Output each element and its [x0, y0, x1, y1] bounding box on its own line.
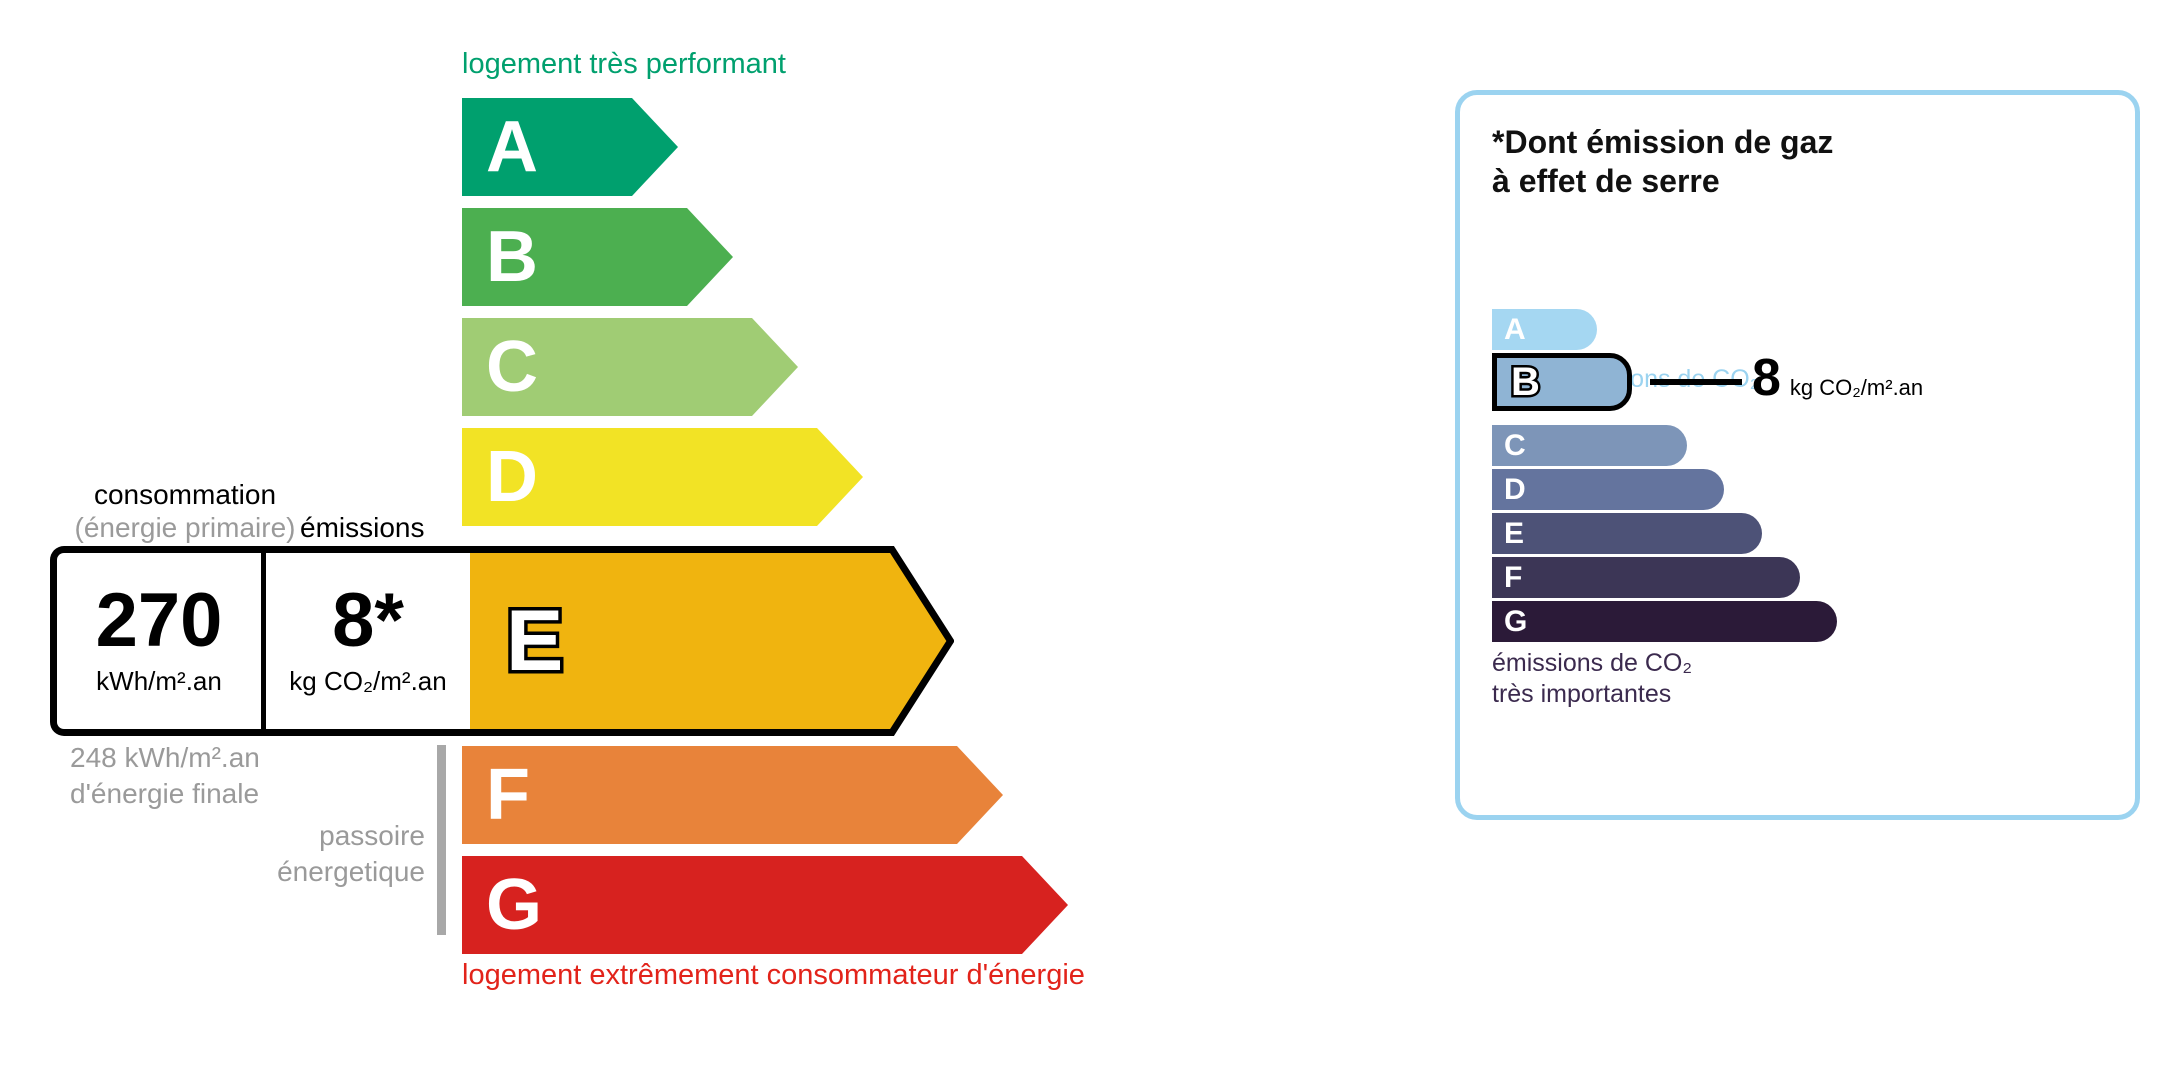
co2-bar-E: E — [1492, 513, 1762, 554]
energy-scale-bottom-caption: logement extrêmement consommateur d'éner… — [462, 959, 1085, 992]
co2-emission-panel: *Dont émission de gaz à effet de serre p… — [1455, 90, 2140, 820]
energy-value-box: 270 kWh/m².an 8* kg CO₂/m².an — [50, 546, 470, 736]
co2-class-row-F: F — [1492, 557, 1800, 598]
energy-class-letter-C: C — [486, 331, 538, 403]
consumption-unit: kWh/m².an — [96, 666, 222, 697]
co2-class-letter-A: A — [1504, 315, 1526, 345]
consumption-value: 270 — [96, 585, 223, 657]
final-energy-line1: 248 kWh/m².an — [70, 740, 260, 776]
consumption-value-cell: 270 kWh/m².an — [57, 553, 266, 729]
energy-arrow-G: G — [462, 856, 542, 954]
energy-class-letter-F: F — [486, 759, 530, 831]
co2-title-line2: à effet de serre — [1492, 162, 1833, 201]
energy-arrow-C: C — [462, 318, 538, 416]
co2-value-unit: kg CO₂/m².an — [1790, 375, 1923, 401]
co2-class-row-D: D — [1492, 469, 1724, 510]
energy-class-letter-G: G — [486, 869, 542, 941]
energy-class-row-F: F — [462, 746, 1003, 844]
emission-unit: kg CO₂/m².an — [289, 666, 446, 697]
co2-bar-C: C — [1492, 425, 1687, 466]
energy-arrow-shape-F — [462, 746, 1003, 844]
energy-class-row-D: D — [462, 428, 863, 526]
energy-class-letter-E: E — [506, 598, 563, 684]
energy-arrow-A: A — [462, 98, 538, 196]
co2-value-number: 8 — [1752, 352, 1781, 404]
energy-class-row-C: C — [462, 318, 798, 416]
co2-value-readout: 8 kg CO₂/m².an — [1752, 352, 1923, 404]
energy-class-letter-B: B — [486, 221, 538, 293]
energy-arrow-D: D — [462, 428, 538, 526]
co2-class-row-E: E — [1492, 513, 1762, 554]
co2-class-row-B: B — [1492, 353, 1632, 411]
co2-title-line1: *Dont émission de gaz — [1492, 123, 1833, 162]
co2-bottom-line1: émissions de CO₂ — [1492, 648, 1692, 679]
energy-class-letter-A: A — [486, 111, 538, 183]
co2-class-row-C: C — [1492, 425, 1687, 466]
passoire-line1: passoire — [200, 818, 425, 854]
energy-performance-diagram: logement très performant ABCDEFG consomm… — [0, 0, 1330, 1079]
passoire-line2: énergetique — [200, 854, 425, 890]
energy-arrow-shape-G — [462, 856, 1068, 954]
co2-panel-title: *Dont émission de gaz à effet de serre — [1492, 123, 1833, 201]
co2-class-row-A: A — [1492, 309, 1597, 350]
emission-value-cell: 8* kg CO₂/m².an — [266, 553, 470, 729]
energy-arrow-E: E — [462, 546, 563, 736]
primary-energy-label: (énergie primaire) — [50, 512, 320, 544]
co2-class-row-G: G — [1492, 601, 1837, 642]
co2-class-letter-D: D — [1504, 475, 1526, 505]
co2-bottom-line2: très importantes — [1492, 679, 1692, 710]
co2-leader-line — [1650, 379, 1742, 385]
emission-value: 8* — [332, 585, 404, 657]
energy-class-letter-D: D — [486, 441, 538, 513]
consumption-label: consommation — [60, 479, 310, 511]
passoire-bracket-bar — [437, 745, 446, 935]
energy-class-row-A: A — [462, 98, 678, 196]
co2-class-letter-F: F — [1504, 563, 1522, 593]
co2-bar-B: B — [1492, 353, 1632, 411]
final-energy-note: 248 kWh/m².an d'énergie finale — [70, 740, 260, 812]
energy-arrow-F: F — [462, 746, 530, 844]
passoire-energetique-note: passoire énergetique — [200, 818, 425, 890]
co2-class-letter-E: E — [1504, 519, 1524, 549]
emissions-label: émissions — [300, 512, 424, 544]
co2-bar-F: F — [1492, 557, 1800, 598]
co2-class-letter-G: G — [1504, 607, 1527, 637]
co2-bar-D: D — [1492, 469, 1724, 510]
energy-class-row-G: G — [462, 856, 1068, 954]
co2-bar-G: G — [1492, 601, 1837, 642]
energy-class-row-E: E — [462, 546, 954, 736]
co2-bar-A: A — [1492, 309, 1597, 350]
co2-class-letter-B: B — [1511, 362, 1540, 402]
co2-bottom-caption: émissions de CO₂ très importantes — [1492, 648, 1692, 709]
final-energy-line2: d'énergie finale — [70, 776, 260, 812]
energy-class-row-B: B — [462, 208, 733, 306]
energy-arrow-B: B — [462, 208, 538, 306]
energy-scale-top-caption: logement très performant — [462, 48, 786, 81]
co2-class-letter-C: C — [1504, 431, 1526, 461]
